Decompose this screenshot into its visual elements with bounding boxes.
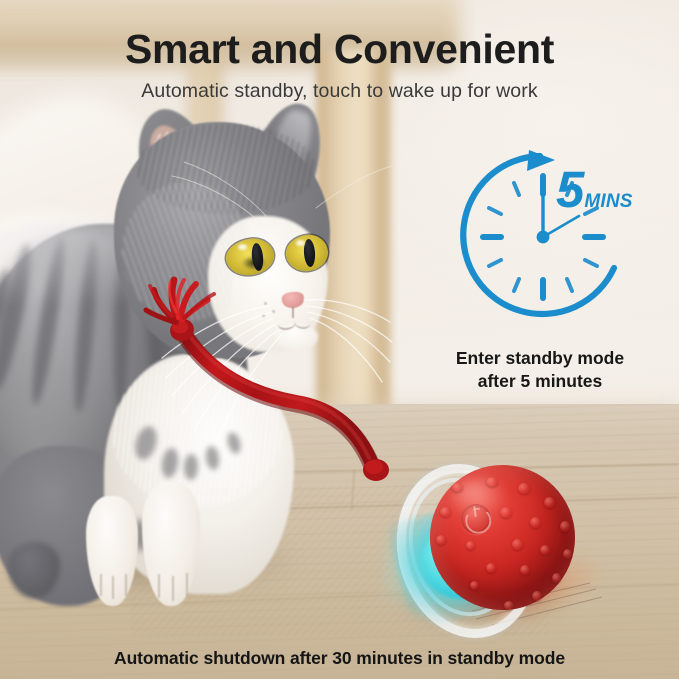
ball-texture-bump (470, 581, 479, 590)
ball-texture-bump (560, 521, 570, 532)
cat-toe-line (186, 573, 188, 596)
cat-ball-toy-product (400, 455, 575, 630)
ball-texture-bump (518, 483, 530, 494)
cat-whisker-dot (272, 310, 275, 313)
ball-texture-bump (512, 539, 523, 550)
ball-texture-bump (532, 591, 542, 601)
ball-texture-bump (520, 565, 530, 575)
cat-mouth (294, 316, 310, 329)
ball-texture-bump (530, 517, 541, 528)
ball-texture-bump (544, 497, 555, 508)
cat-toe-line (172, 576, 174, 601)
cat-chest-fur (112, 358, 282, 508)
ball-texture-bump (552, 573, 561, 583)
ball-texture-bump (504, 601, 514, 610)
cat-toe-line (112, 576, 114, 599)
standby-duration-unit: MINS (584, 191, 632, 212)
cat-eye-glint-left (238, 244, 247, 250)
ball-texture-bump (452, 483, 463, 492)
cat-toe-line (100, 574, 102, 596)
product-marketing-image: 5MINS Smart and Convenient Automatic sta… (0, 0, 679, 679)
footer-caption: Automatic shutdown after 30 minutes in s… (0, 648, 679, 669)
page-subtitle: Automatic standby, touch to wake up for … (0, 80, 679, 103)
clock-caption: Enter standby mode after 5 minutes (405, 347, 675, 393)
cat-eye-glint-right (296, 240, 305, 246)
clock-caption-line-1: Enter standby mode (405, 347, 675, 370)
ball-texture-bump (500, 507, 512, 518)
ball-texture-bump (440, 507, 451, 517)
cat-toe-line (158, 574, 160, 598)
ball-texture-bump (486, 563, 496, 573)
standby-duration-label: 5MINS (556, 164, 633, 215)
cat-whisker-dot (264, 302, 267, 305)
ball-texture-bump (563, 549, 572, 559)
ball-texture-bump (486, 477, 498, 487)
standby-duration-value: 5 (556, 161, 584, 218)
ball-texture-bump (466, 541, 475, 550)
ball-texture-bump (436, 535, 446, 545)
ball-texture-bump (540, 545, 550, 555)
clock-caption-line-2: after 5 minutes (405, 370, 675, 393)
page-title: Smart and Convenient (0, 26, 679, 73)
cat-toe-line (125, 574, 127, 596)
cat-whisker-dot (262, 314, 265, 317)
cat-photo (0, 96, 406, 656)
